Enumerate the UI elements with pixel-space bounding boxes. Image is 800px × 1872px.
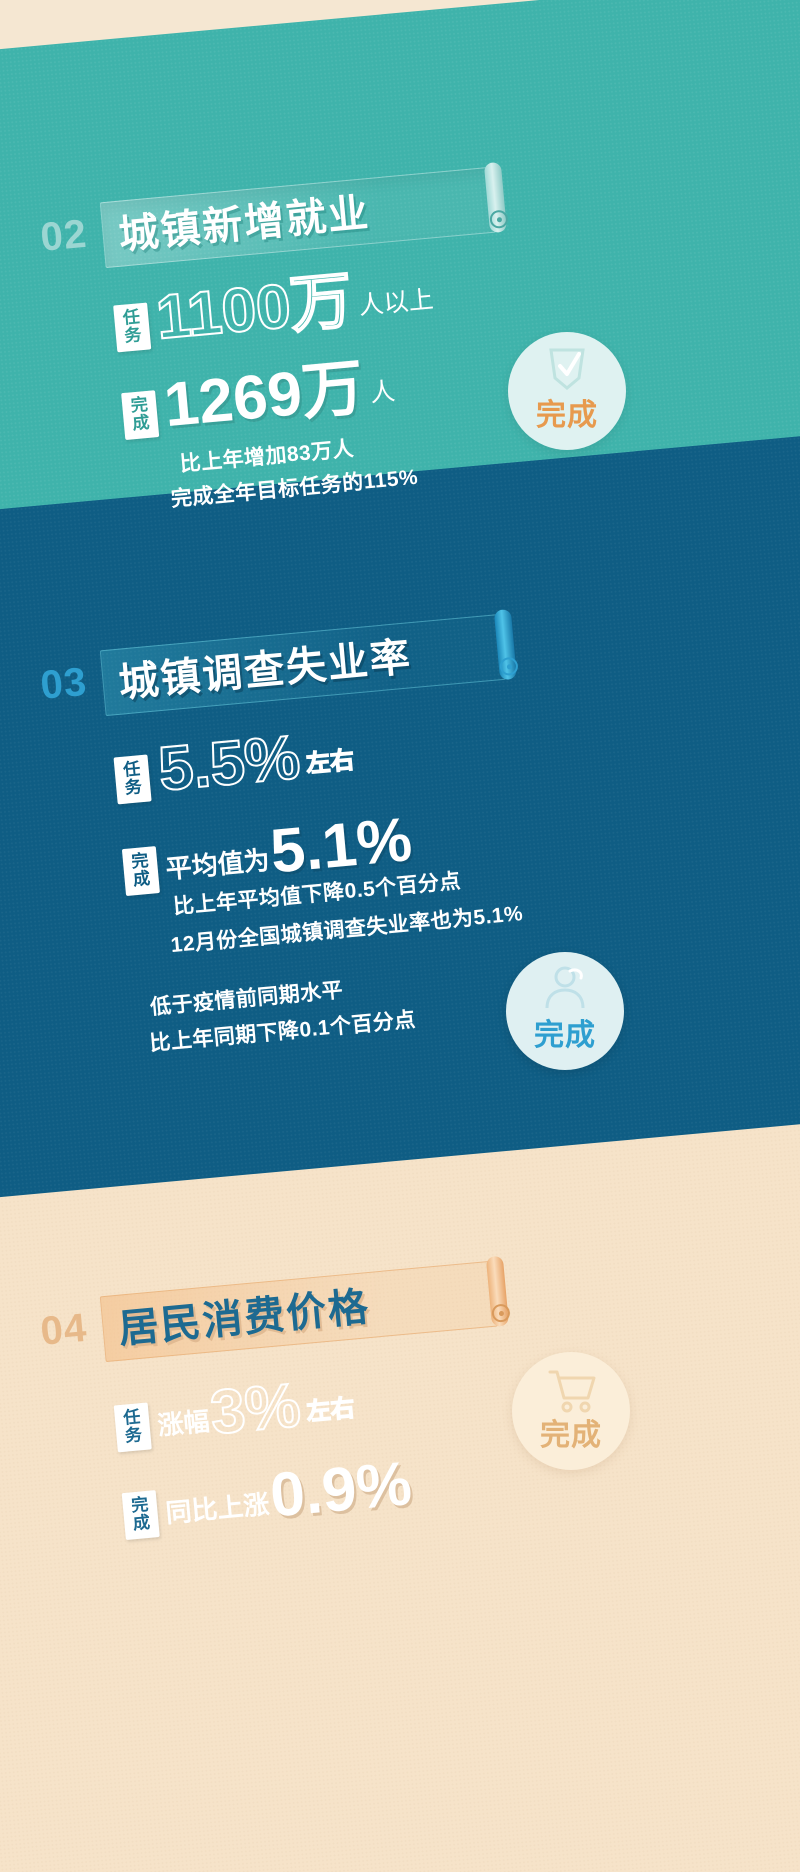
- section-04-seal: 完成: [512, 1352, 630, 1470]
- infographic-page: 02 城镇新增就业 任 务 1100万 人以上 完 成 1269万 人 比上年增…: [0, 0, 800, 1872]
- task-chip: 任 务: [114, 1403, 152, 1453]
- done-value: 0.9%: [268, 1455, 414, 1526]
- done-unit: 人: [368, 371, 397, 417]
- section-03-seal: 完成: [506, 952, 624, 1070]
- task-chip: 任 务: [114, 755, 152, 805]
- task-lead: 涨幅: [156, 1401, 212, 1449]
- task-value: 1100万: [154, 272, 355, 348]
- done-value: 1269万: [162, 359, 366, 436]
- rod-cap-icon: [489, 209, 509, 229]
- task-value: 5.5%: [156, 729, 302, 800]
- done-chip: 完 成: [122, 846, 160, 896]
- task-unit: 人以上: [357, 280, 436, 331]
- seal-label: 完成: [534, 1010, 596, 1054]
- seal-label: 完成: [540, 1410, 602, 1454]
- task-unit: 左右: [304, 740, 356, 787]
- task-unit: 左右: [305, 1388, 357, 1435]
- section-04-number: 04: [39, 1306, 89, 1355]
- section-02-number: 02: [39, 212, 89, 261]
- check-ribbon-icon: [539, 344, 595, 396]
- task-chip: 任 务: [113, 303, 151, 353]
- section-02-seal: 完成: [508, 332, 626, 450]
- person-check-icon: [537, 964, 593, 1016]
- rod-cap-icon: [499, 657, 519, 677]
- section-03-number: 03: [39, 660, 89, 709]
- task-value: 3%: [208, 1377, 303, 1444]
- done-chip: 完 成: [122, 1490, 160, 1540]
- seal-label: 完成: [536, 390, 598, 434]
- done-chip: 完 成: [121, 390, 159, 440]
- rod-cap-icon: [491, 1303, 511, 1323]
- cart-check-icon: [542, 1364, 600, 1414]
